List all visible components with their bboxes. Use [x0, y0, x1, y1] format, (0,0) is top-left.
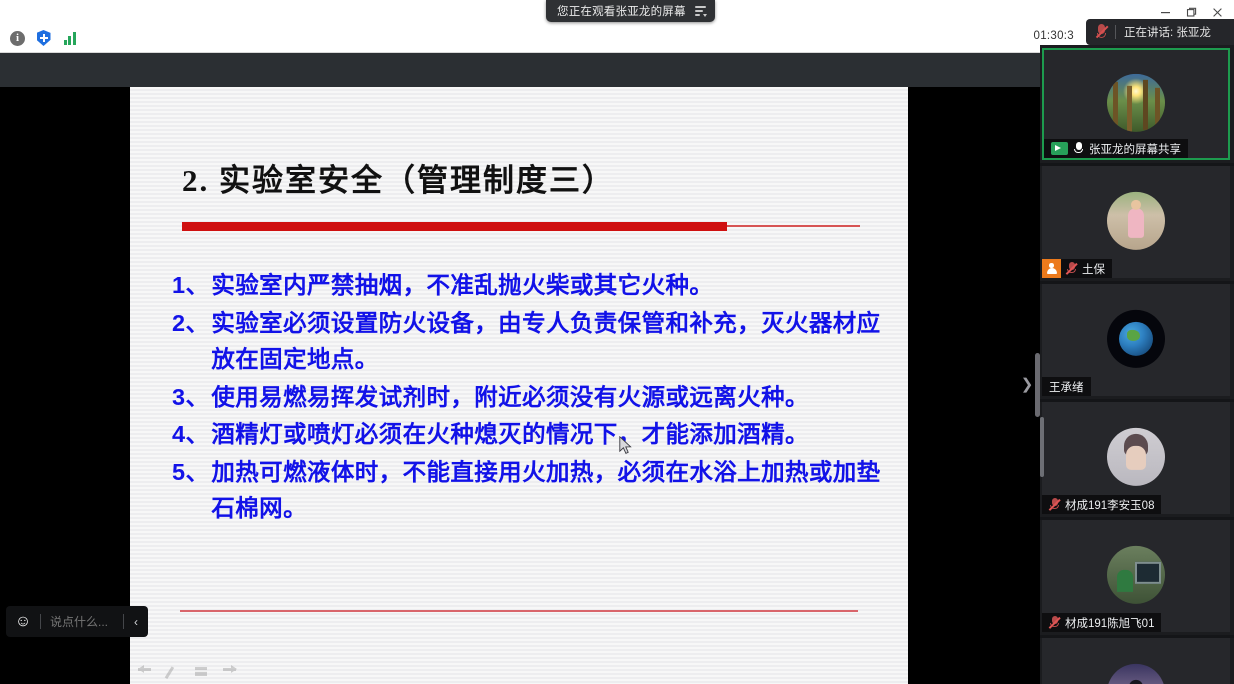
mic-on-icon [1073, 142, 1084, 156]
bullet-text: 酒精灯或喷灯必须在火种熄灭的情况下，才能添加酒精。 [211, 416, 882, 453]
chat-bar[interactable]: ☺ ‹ [6, 606, 148, 637]
participant-name: 材成191陈旭飞01 [1065, 615, 1154, 631]
network-signal-icon[interactable] [61, 30, 78, 47]
bullet-number: 2、 [172, 305, 209, 342]
participant-tile-3[interactable]: 王承绪 [1042, 284, 1230, 396]
slide-title: 2. 实验室安全（管理制度三） [182, 155, 615, 200]
slide-bottom-rule [180, 610, 858, 612]
prev-slide-icon[interactable] [138, 665, 153, 678]
slideshow-controls [138, 665, 237, 678]
screen-share-icon [1051, 142, 1068, 155]
list-item: 1、 实验室内严禁抽烟，不准乱抛火柴或其它火种。 [172, 267, 882, 304]
info-icon[interactable]: i [9, 30, 26, 47]
avatar [1107, 546, 1165, 604]
bullet-text: 加热可燃液体时，不能直接用火加热，必须在水浴上加热或加垫石棉网。 [211, 454, 882, 527]
participant-name: 王承绪 [1049, 379, 1084, 395]
slide-title-underline [182, 222, 727, 231]
mic-muted-icon [1049, 616, 1060, 630]
slide-menu-icon[interactable] [194, 665, 209, 678]
bullet-text: 实验室必须设置防火设备，由专人负责保管和补充，灭火器材应放在固定地点。 [211, 305, 882, 378]
avatar [1107, 428, 1165, 486]
participant-label: 材成191李安玉08 [1042, 495, 1161, 514]
shared-screen-scrollbar[interactable] [1035, 353, 1040, 417]
list-item: 3、 使用易燃易挥发试剂时，附近必须没有火源或远离火种。 [172, 379, 882, 416]
avatar [1107, 664, 1165, 684]
participant-tile-screen-share[interactable]: 张亚龙的屏幕共享 [1042, 48, 1230, 160]
participant-name: 张亚龙的屏幕共享 [1089, 141, 1181, 157]
security-shield-icon[interactable] [35, 30, 52, 47]
chat-collapse-icon[interactable]: ‹ [124, 606, 148, 637]
active-speaker-banner: 正在讲话: 张亚龙 [1086, 19, 1234, 45]
participant-label: 王承绪 [1042, 377, 1091, 396]
participant-tile-6[interactable] [1042, 638, 1230, 684]
list-item: 2、 实验室必须设置防火设备，由专人负责保管和补充，灭火器材应放在固定地点。 [172, 305, 882, 378]
next-slide-icon[interactable] [222, 665, 237, 678]
participant-tile-5[interactable]: 材成191陈旭飞01 [1042, 520, 1230, 632]
avatar [1107, 192, 1165, 250]
list-menu-icon[interactable] [695, 6, 706, 16]
participant-label: 张亚龙的屏幕共享 [1044, 139, 1188, 158]
avatar [1107, 74, 1165, 132]
participant-label: 材成191陈旭飞01 [1042, 613, 1161, 632]
participant-name: 材成191李安玉08 [1065, 497, 1154, 513]
bullet-number: 1、 [172, 267, 209, 304]
active-speaker-label: 正在讲话: 张亚龙 [1124, 24, 1211, 40]
mic-muted-icon [1066, 262, 1077, 276]
bullet-number: 5、 [172, 454, 209, 491]
chat-input[interactable] [41, 606, 123, 637]
viewing-screen-label: 您正在观看张亚龙的屏幕 [557, 3, 686, 19]
list-item: 5、 加热可燃液体时，不能直接用火加热，必须在水浴上加热或加垫石棉网。 [172, 454, 882, 527]
participant-name: 土保 [1082, 261, 1105, 277]
participants-panel[interactable]: 张亚龙的屏幕共享 土保 王承绪 材成191李安玉08 [1040, 45, 1234, 684]
pen-icon[interactable] [166, 665, 181, 678]
participant-label: 土保 [1042, 259, 1112, 278]
meeting-timer: 01:30:3 [1034, 30, 1074, 42]
list-item: 4、 酒精灯或喷灯必须在火种熄灭的情况下，才能添加酒精。 [172, 416, 882, 453]
participants-scrollbar[interactable] [1040, 417, 1044, 477]
presentation-slide[interactable]: 2. 实验室安全（管理制度三） 1、 实验室内严禁抽烟，不准乱抛火柴或其它火种。… [130, 87, 908, 684]
viewing-screen-banner[interactable]: 您正在观看张亚龙的屏幕 [546, 0, 715, 22]
bullet-number: 3、 [172, 379, 209, 416]
mic-muted-icon [1049, 498, 1060, 512]
emoji-icon[interactable]: ☺ [6, 606, 40, 637]
shared-screen-topbar [0, 53, 1040, 87]
slide-bullet-list: 1、 实验室内严禁抽烟，不准乱抛火柴或其它火种。 2、 实验室必须设置防火设备，… [172, 267, 882, 528]
host-badge-icon [1042, 259, 1061, 278]
bullet-text: 使用易燃易挥发试剂时，附近必须没有火源或远离火种。 [211, 379, 882, 416]
participant-tile-4[interactable]: 材成191李安玉08 [1042, 402, 1230, 514]
avatar [1107, 310, 1165, 368]
mouse-cursor [619, 436, 632, 455]
participant-tile-host[interactable]: 土保 [1042, 166, 1230, 278]
zoom-meeting-window: 您正在观看张亚龙的屏幕 i 01:30:3 正在讲话: 张亚龙 2. 实验室安全… [0, 0, 1234, 684]
bullet-text: 实验室内严禁抽烟，不准乱抛火柴或其它火种。 [211, 267, 882, 304]
shared-screen-area[interactable]: 2. 实验室安全（管理制度三） 1、 实验室内严禁抽烟，不准乱抛火柴或其它火种。… [0, 53, 1040, 684]
panel-collapse-chevron-icon[interactable]: ❯ [1020, 375, 1034, 395]
bullet-number: 4、 [172, 416, 209, 453]
mic-muted-icon [1096, 24, 1107, 40]
